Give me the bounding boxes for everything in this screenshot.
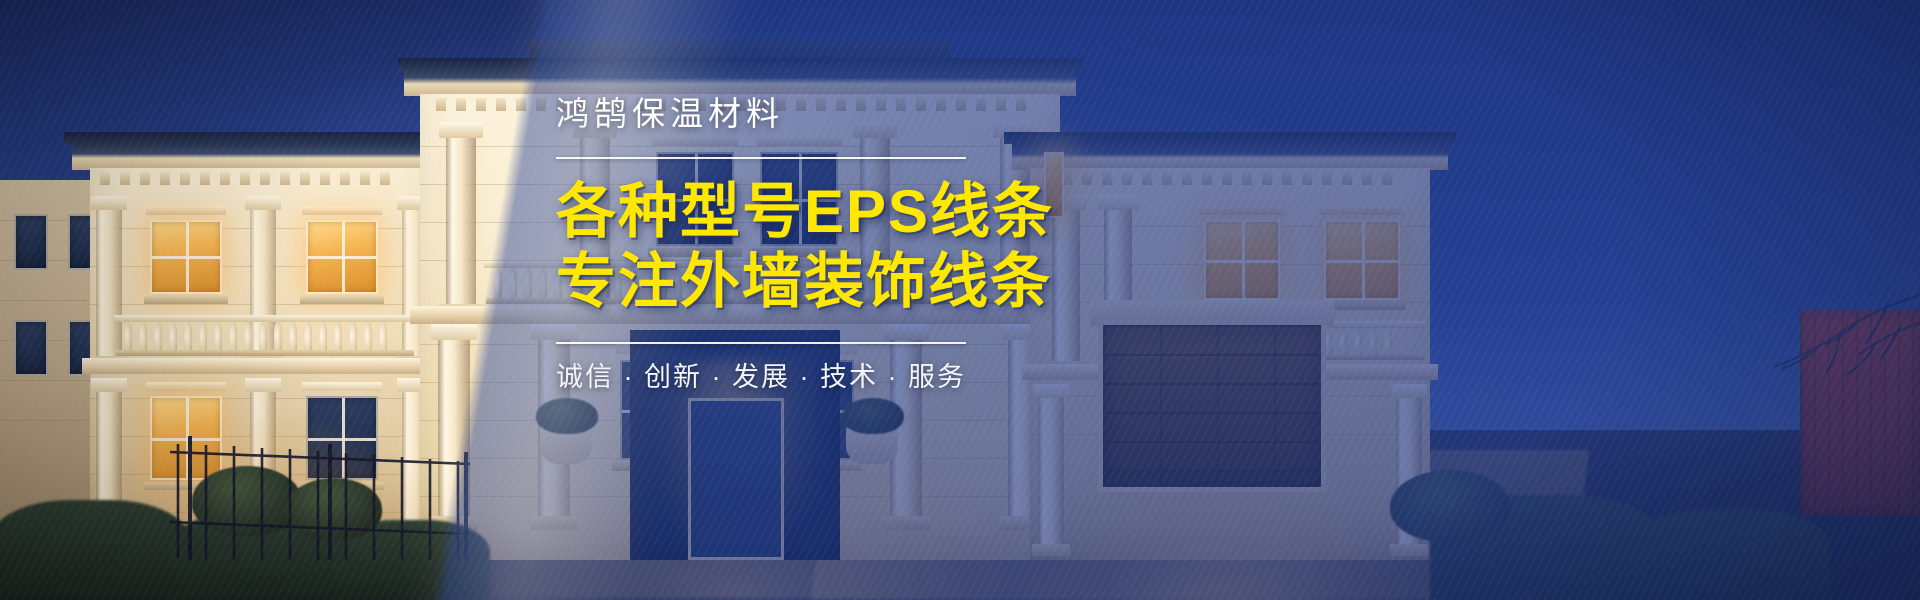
brand-name: 鸿鹄保温材料	[556, 96, 1256, 132]
entry-door	[688, 398, 784, 560]
hedge-shrub	[1390, 470, 1510, 542]
lit-window	[150, 220, 222, 294]
hedge-shrub	[1630, 510, 1830, 600]
iron-fence	[170, 430, 470, 560]
headline-line-2: 专注外墙装饰线条	[556, 247, 1256, 317]
pilaster	[96, 208, 122, 358]
banner-text-block: 鸿鹄保温材料 各种型号EPS线条 专注外墙装饰线条 诚信 · 创新 · 发展 ·…	[556, 96, 1256, 394]
hedge-shrub	[0, 500, 190, 600]
headline-line-1: 各种型号EPS线条	[556, 177, 1256, 247]
tree-branch	[1690, 275, 1920, 395]
lit-window	[14, 214, 48, 270]
balustrade	[120, 322, 410, 356]
hedge-shrub	[536, 398, 598, 434]
dentil-row	[100, 172, 390, 185]
hero-banner: 鸿鹄保温材料 各种型号EPS线条 专注外墙装饰线条 诚信 · 创新 · 发展 ·…	[0, 0, 1920, 600]
lit-window	[306, 220, 378, 294]
divider-bottom	[556, 342, 966, 344]
divider-top	[556, 157, 966, 159]
lit-window	[14, 320, 48, 376]
column	[446, 136, 476, 306]
hedge-shrub	[842, 398, 904, 434]
lit-window	[1324, 220, 1400, 300]
slogan: 诚信 · 创新 · 发展 · 技术 · 服务	[556, 361, 1256, 393]
